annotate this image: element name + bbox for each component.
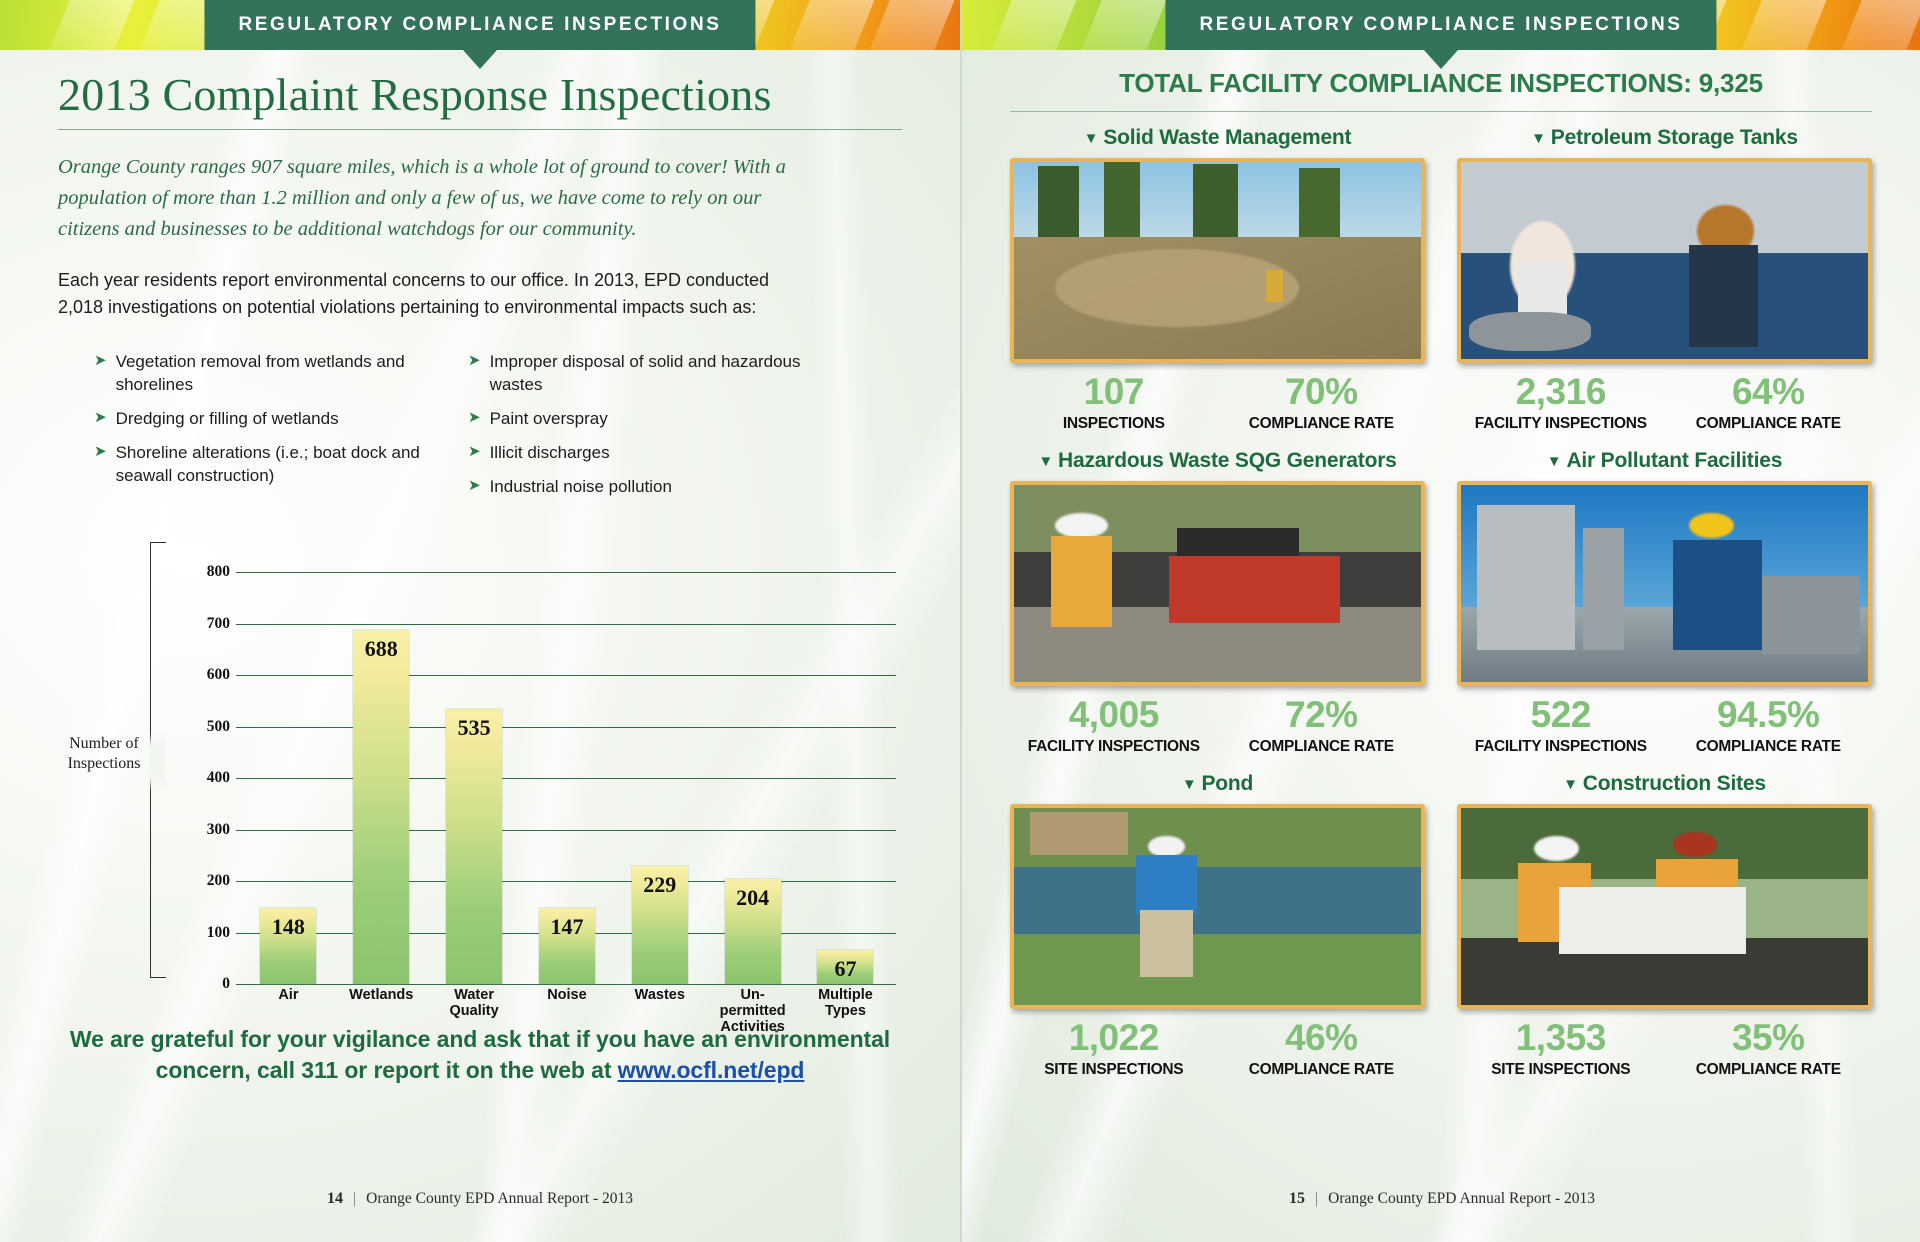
card-stats: 2,316FACILITY INSPECTIONS64%COMPLIANCE R… [1457, 373, 1872, 433]
stat-label: FACILITY INSPECTIONS [1457, 738, 1665, 756]
stat-inspections: 4,005FACILITY INSPECTIONS [1010, 696, 1218, 756]
bullet-column-right: ➤ Improper disposal of solid and hazardo… [468, 351, 828, 510]
card-stats: 107INSPECTIONS70%COMPLIANCE RATE [1010, 373, 1425, 433]
stat-inspections: 522FACILITY INSPECTIONS [1457, 696, 1665, 756]
left-page: REGULATORY COMPLIANCE INSPECTIONS 2013 C… [0, 0, 960, 1242]
bar-value-label: 535 [446, 715, 502, 741]
y-axis-tick: 400 [186, 769, 230, 787]
card-title: Pond [1201, 772, 1253, 796]
stat-compliance-rate: 72%COMPLIANCE RATE [1218, 696, 1426, 756]
triangle-down-icon: ▼ [1182, 777, 1197, 792]
photo-detail [1055, 513, 1108, 539]
stat-compliance-rate: 46%COMPLIANCE RATE [1218, 1019, 1426, 1079]
card-stats: 1,353SITE INSPECTIONS35%COMPLIANCE RATE [1457, 1019, 1872, 1079]
list-item: ➤ Dredging or filling of wetlands [94, 408, 454, 431]
card-title-row: ▼Hazardous Waste SQG Generators [1010, 449, 1425, 473]
card-row: ▼Solid Waste Management107INSPECTIONS70%… [1010, 126, 1872, 433]
bullet-text: Illicit discharges [490, 442, 610, 465]
photo-detail [1014, 934, 1421, 1005]
bar-slot: 148 [247, 908, 329, 984]
photo-detail [1266, 270, 1282, 302]
y-axis-bracket [150, 542, 166, 978]
stat-value: 35% [1665, 1019, 1873, 1056]
photo-detail [1051, 536, 1112, 627]
bullet-text: Dredging or filling of wetlands [116, 408, 339, 431]
bar-value-label: 229 [632, 872, 688, 898]
stat-value: 522 [1457, 696, 1665, 733]
stat-value: 2,316 [1457, 373, 1665, 410]
facility-category-cards: ▼Solid Waste Management107INSPECTIONS70%… [1010, 126, 1872, 1079]
bullet-text: Industrial noise pollution [490, 476, 672, 499]
card-title: Solid Waste Management [1103, 126, 1351, 150]
impact-bullet-lists: ➤ Vegetation removal from wetlands and s… [58, 351, 902, 510]
photo-detail [1559, 887, 1746, 954]
list-item: ➤ Paint overspray [468, 408, 828, 431]
photo-detail [1177, 528, 1299, 556]
intro-paragraph: Each year residents report environmental… [58, 267, 818, 321]
total-inspections-title: TOTAL FACILITY COMPLIANCE INSPECTIONS: 9… [1010, 68, 1872, 99]
stat-label: FACILITY INSPECTIONS [1010, 738, 1218, 756]
card-title-row: ▼Pond [1010, 772, 1425, 796]
stat-compliance-rate: 35%COMPLIANCE RATE [1665, 1019, 1873, 1079]
banner-pointer-left [463, 50, 497, 69]
chart-bar: 688 [353, 630, 409, 984]
title-divider [58, 129, 902, 130]
triangle-down-icon: ▼ [1547, 454, 1562, 469]
right-page: REGULATORY COMPLIANCE INSPECTIONS TOTAL … [960, 0, 1920, 1242]
petroleum-tanks-photo [1457, 158, 1872, 363]
page-title: 2013 Complaint Response Inspections [58, 68, 902, 121]
stat-compliance-rate: 94.5%COMPLIANCE RATE [1665, 696, 1873, 756]
triangle-down-icon: ▼ [1563, 777, 1578, 792]
bar-slot: 67 [805, 950, 887, 985]
list-item: ➤ Shoreline alterations (i.e.; boat dock… [94, 442, 454, 488]
bullet-text: Vegetation removal from wetlands and sho… [116, 351, 454, 397]
list-item: ➤ Illicit discharges [468, 442, 828, 465]
arrow-bullet-icon: ➤ [468, 442, 481, 462]
arrow-bullet-icon: ➤ [468, 351, 481, 371]
triangle-down-icon: ▼ [1084, 131, 1099, 146]
left-page-content: 2013 Complaint Response Inspections Oran… [0, 68, 960, 1086]
banner-label-text-left: REGULATORY COMPLIANCE INSPECTIONS [238, 14, 721, 36]
photo-detail [1534, 836, 1579, 862]
card-title-row: ▼Petroleum Storage Tanks [1457, 126, 1872, 150]
pond-photo [1010, 804, 1425, 1009]
footer-right: 15 | Orange County EPD Annual Report - 2… [962, 1190, 1920, 1208]
stat-label: FACILITY INSPECTIONS [1457, 415, 1665, 433]
chart-bar: 67 [817, 950, 873, 985]
x-axis-label: Noise [526, 988, 608, 1036]
chart-bars: 14868853514722920467 [242, 572, 892, 984]
stat-compliance-rate: 70%COMPLIANCE RATE [1218, 373, 1426, 433]
photo-detail [1169, 556, 1340, 623]
complaint-inspections-bar-chart: Number of Inspections 010020030040050060… [58, 536, 902, 1006]
epd-website-link[interactable]: www.ocfl.net/epd [618, 1057, 805, 1083]
triangle-down-icon: ▼ [1531, 131, 1546, 146]
page-number: 14 [327, 1190, 343, 1208]
category-card: ▼Pond1,022SITE INSPECTIONS46%COMPLIANCE … [1010, 772, 1425, 1079]
solid-waste-photo [1010, 158, 1425, 363]
stat-value: 1,353 [1457, 1019, 1665, 1056]
stat-value: 72% [1218, 696, 1426, 733]
y-axis-tick: 800 [186, 563, 230, 581]
cta-line-2: concern, call 311 or report it on the we… [58, 1055, 902, 1086]
card-row: ▼Pond1,022SITE INSPECTIONS46%COMPLIANCE … [1010, 772, 1872, 1079]
card-title: Petroleum Storage Tanks [1551, 126, 1798, 150]
chart-plot-area: 0100200300400500600700800 14868853514722… [186, 536, 902, 984]
chart-bar: 148 [260, 908, 316, 984]
stat-inspections: 1,353SITE INSPECTIONS [1457, 1019, 1665, 1079]
stat-inspections: 2,316FACILITY INSPECTIONS [1457, 373, 1665, 433]
y-axis-tick: 0 [186, 975, 230, 993]
category-card: ▼Air Pollutant Facilities522FACILITY INS… [1457, 449, 1872, 756]
list-item: ➤ Vegetation removal from wetlands and s… [94, 351, 454, 397]
photo-detail [1477, 505, 1575, 651]
stat-label: COMPLIANCE RATE [1218, 1061, 1426, 1079]
stat-inspections: 107INSPECTIONS [1010, 373, 1218, 433]
bullet-text: Improper disposal of solid and hazardous… [490, 351, 828, 397]
card-title: Hazardous Waste SQG Generators [1058, 449, 1397, 473]
photo-detail [1469, 312, 1591, 351]
page-number: 15 [1289, 1190, 1305, 1208]
photo-detail [1689, 245, 1758, 347]
arrow-bullet-icon: ➤ [94, 351, 107, 371]
photo-detail [1583, 528, 1624, 650]
arrow-bullet-icon: ➤ [468, 408, 481, 428]
cta-line-2-text: concern, call 311 or report it on the we… [156, 1057, 618, 1083]
chart-bar: 147 [539, 908, 595, 984]
stat-label: INSPECTIONS [1010, 415, 1218, 433]
bullet-column-left: ➤ Vegetation removal from wetlands and s… [94, 351, 454, 510]
bullet-text: Shoreline alterations (i.e.; boat dock a… [116, 442, 454, 488]
stat-value: 4,005 [1010, 696, 1218, 733]
photo-detail [1030, 812, 1128, 855]
photo-detail [1038, 166, 1079, 245]
photo-detail [1689, 513, 1734, 539]
bar-slot: 204 [712, 879, 794, 984]
y-axis-title-text: Number of Inspections [68, 735, 141, 772]
card-title: Construction Sites [1583, 772, 1766, 796]
list-item: ➤ Industrial noise pollution [468, 476, 828, 499]
list-item: ➤ Improper disposal of solid and hazardo… [468, 351, 828, 397]
bar-slot: 147 [526, 908, 608, 984]
footer-separator: | [353, 1190, 356, 1208]
card-title-row: ▼Construction Sites [1457, 772, 1872, 796]
stat-label: COMPLIANCE RATE [1665, 738, 1873, 756]
stat-label: SITE INSPECTIONS [1010, 1061, 1218, 1079]
photo-detail [1673, 540, 1763, 650]
category-card: ▼Petroleum Storage Tanks2,316FACILITY IN… [1457, 126, 1872, 433]
chart-bar: 535 [446, 709, 502, 985]
photo-detail [1136, 855, 1197, 914]
footer-separator: | [1315, 1190, 1318, 1208]
photo-detail [1193, 164, 1238, 247]
stat-label: COMPLIANCE RATE [1218, 738, 1426, 756]
stat-value: 107 [1010, 373, 1218, 410]
stat-inspections: 1,022SITE INSPECTIONS [1010, 1019, 1218, 1079]
bar-slot: 229 [619, 866, 701, 984]
bar-value-label: 204 [725, 885, 781, 911]
photo-detail [1140, 910, 1193, 977]
arrow-bullet-icon: ➤ [468, 476, 481, 496]
card-stats: 522FACILITY INSPECTIONS94.5%COMPLIANCE R… [1457, 696, 1872, 756]
hazardous-waste-photo [1010, 481, 1425, 686]
category-card: ▼Hazardous Waste SQG Generators4,005FACI… [1010, 449, 1425, 756]
photo-detail [1148, 836, 1185, 858]
stat-label: COMPLIANCE RATE [1218, 415, 1426, 433]
card-stats: 4,005FACILITY INSPECTIONS72%COMPLIANCE R… [1010, 696, 1425, 756]
bar-slot: 535 [433, 709, 515, 985]
y-axis-title: Number of Inspections [58, 734, 150, 774]
triangle-down-icon: ▼ [1038, 454, 1053, 469]
photo-detail [1762, 576, 1860, 655]
x-axis-label: MultipleTypes [805, 988, 887, 1036]
banner-label-right: REGULATORY COMPLIANCE INSPECTIONS [1165, 0, 1716, 50]
y-axis-tick: 200 [186, 872, 230, 890]
bar-value-label: 67 [817, 956, 873, 982]
stat-value: 64% [1665, 373, 1873, 410]
bullet-text: Paint overspray [490, 408, 608, 431]
banner-label-left: REGULATORY COMPLIANCE INSPECTIONS [204, 0, 755, 50]
bar-value-label: 147 [539, 914, 595, 940]
banner-pointer-right [1424, 50, 1458, 69]
gridline [236, 984, 896, 985]
magazine-spread: REGULATORY COMPLIANCE INSPECTIONS 2013 C… [0, 0, 1920, 1242]
bar-value-label: 148 [260, 914, 316, 940]
y-axis-tick: 300 [186, 821, 230, 839]
stat-value: 70% [1218, 373, 1426, 410]
stat-label: COMPLIANCE RATE [1665, 1061, 1873, 1079]
card-row: ▼Hazardous Waste SQG Generators4,005FACI… [1010, 449, 1872, 756]
photo-detail [1014, 867, 1421, 934]
bar-slot: 688 [340, 630, 422, 984]
x-axis-label: Wetlands [340, 988, 422, 1036]
x-axis-label: WaterQuality [433, 988, 515, 1036]
arrow-bullet-icon: ➤ [94, 408, 107, 428]
photo-detail [1299, 168, 1340, 243]
category-card: ▼Solid Waste Management107INSPECTIONS70%… [1010, 126, 1425, 433]
stat-value: 46% [1218, 1019, 1426, 1056]
right-page-content: TOTAL FACILITY COMPLIANCE INSPECTIONS: 9… [962, 68, 1920, 1079]
card-title-row: ▼Solid Waste Management [1010, 126, 1425, 150]
y-axis-tick: 700 [186, 615, 230, 633]
card-title: Air Pollutant Facilities [1566, 449, 1782, 473]
stat-compliance-rate: 64%COMPLIANCE RATE [1665, 373, 1873, 433]
footer-text: Orange County EPD Annual Report - 2013 [366, 1190, 633, 1208]
photo-detail [1104, 162, 1141, 249]
category-card: ▼Construction Sites1,353SITE INSPECTIONS… [1457, 772, 1872, 1079]
stat-label: COMPLIANCE RATE [1665, 415, 1873, 433]
intro-lede: Orange County ranges 907 square miles, w… [58, 152, 798, 245]
y-axis-tick: 600 [186, 666, 230, 684]
y-axis-tick: 500 [186, 718, 230, 736]
banner-label-text-right: REGULATORY COMPLIANCE INSPECTIONS [1199, 14, 1682, 36]
stat-value: 1,022 [1010, 1019, 1218, 1056]
card-stats: 1,022SITE INSPECTIONS46%COMPLIANCE RATE [1010, 1019, 1425, 1079]
x-axis-label: Wastes [619, 988, 701, 1036]
footer-left: 14 | Orange County EPD Annual Report - 2… [0, 1190, 960, 1208]
y-axis-tick: 100 [186, 924, 230, 942]
construction-sites-photo [1457, 804, 1872, 1009]
stat-value: 94.5% [1665, 696, 1873, 733]
chart-bar: 204 [725, 879, 781, 984]
photo-detail [1055, 249, 1299, 328]
x-axis-label: Un-permittedActivities [712, 988, 794, 1036]
bar-value-label: 688 [353, 636, 409, 662]
x-axis-labels: AirWetlandsWaterQualityNoiseWastesUn-per… [242, 988, 892, 1036]
total-title-divider [1010, 111, 1872, 112]
stat-label: SITE INSPECTIONS [1457, 1061, 1665, 1079]
arrow-bullet-icon: ➤ [94, 442, 107, 462]
footer-text: Orange County EPD Annual Report - 2013 [1328, 1190, 1595, 1208]
x-axis-label: Air [247, 988, 329, 1036]
chart-bar: 229 [632, 866, 688, 984]
air-pollutant-photo [1457, 481, 1872, 686]
card-title-row: ▼Air Pollutant Facilities [1457, 449, 1872, 473]
